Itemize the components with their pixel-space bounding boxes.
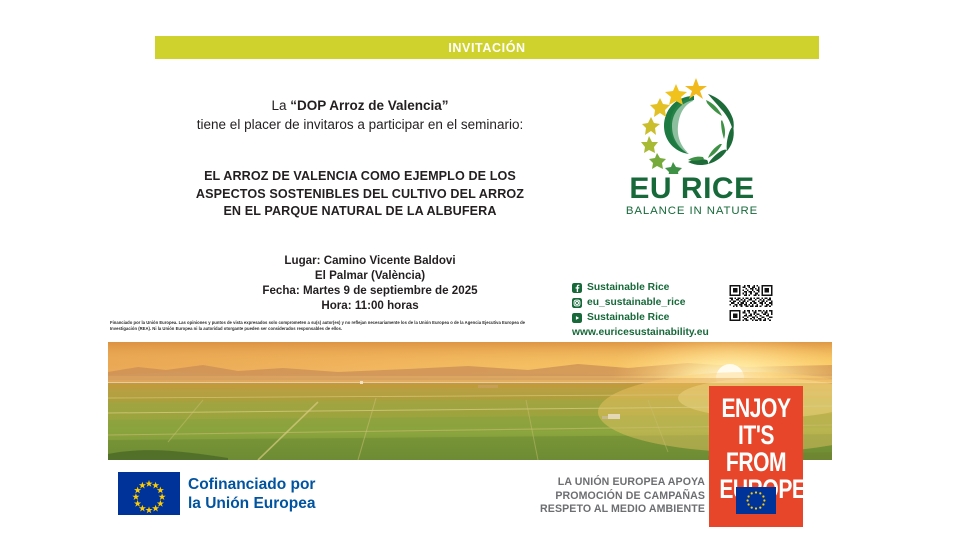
qr-code[interactable] [722,280,780,326]
intro-prefix: La [271,98,290,113]
invitation-page: INVITACIÓN La “DOP Arroz de Valencia” ti… [0,0,954,534]
seminar-title: EL ARROZ DE VALENCIA COMO EJEMPLO DE LOS… [150,168,570,221]
eu-flag-icon-badge [736,487,776,514]
campaign-line-2: PROMOCIÓN DE CAMPAÑAS [505,490,705,504]
facebook-handle: Sustainable Rice [587,282,669,293]
enjoy-its-from-europe-badge: ENJOY IT'S FROM EUROPE [709,386,803,527]
social-row-youtube[interactable]: Sustainable Rice [572,311,722,325]
eurice-logo: EU RICE BALANCE IN NATURE [612,74,772,229]
event-time: Hora: 11:00 horas [200,298,540,313]
invitation-banner: INVITACIÓN [155,36,819,59]
youtube-handle: Sustainable Rice [587,312,669,323]
social-row-facebook[interactable]: Sustainable Rice [572,281,722,295]
eurice-wordmark: EU RICE [612,174,772,204]
cofunded-line-2: la Unión Europea [188,494,315,513]
eu-funding-disclaimer: Financiado por la Unión Europea. Las opi… [110,320,542,332]
instagram-handle: eu_sustainable_rice [587,297,685,308]
enjoy-line-1: ENJOY [719,395,792,422]
banner-label: INVITACIÓN [155,41,819,54]
intro-line-1: La “DOP Arroz de Valencia” [150,96,570,115]
youtube-icon [572,313,582,323]
event-locality: El Palmar (València) [200,268,540,283]
event-details: Lugar: Camino Vicente Baldovi El Palmar … [200,253,540,313]
cofunded-line-1: Cofinanciado por [188,475,315,494]
cofunded-by-eu-logo: Cofinanciado por la Unión Europea [118,472,318,518]
campaign-line-1: LA UNIÓN EUROPEA APOYA [505,476,705,490]
cofunded-label: Cofinanciado por la Unión Europea [188,475,315,513]
seminar-title-line-3: EN EL PARQUE NATURAL DE LA ALBUFERA [150,203,570,221]
eurice-tagline: BALANCE IN NATURE [612,205,772,218]
intro-line-2: tiene el placer de invitaros a participa… [150,115,570,134]
event-place: Lugar: Camino Vicente Baldovi [200,253,540,268]
eu-flag-icon [118,472,180,515]
dop-brand-name: “DOP Arroz de Valencia” [290,98,448,113]
intro-text: La “DOP Arroz de Valencia” tiene el plac… [150,96,570,134]
instagram-icon [572,298,582,308]
website-link[interactable]: www.euricesustainability.eu [572,327,722,338]
seminar-title-line-2: ASPECTOS SOSTENIBLES DEL CULTIVO DEL ARR… [150,186,570,204]
campaign-line-3: RESPETO AL MEDIO AMBIENTE [505,503,705,517]
enjoy-line-2: IT'S FROM [719,422,792,476]
seminar-title-line-1: EL ARROZ DE VALENCIA COMO EJEMPLO DE LOS [150,168,570,186]
event-date: Fecha: Martes 9 de septiembre de 2025 [200,283,540,298]
eu-campaign-statement: LA UNIÓN EUROPEA APOYA PROMOCIÓN DE CAMP… [505,476,705,517]
eurice-emblem-icon [634,74,752,174]
social-links: Sustainable Rice eu_sustainable_rice Sus… [572,281,722,338]
facebook-icon [572,283,582,293]
social-row-instagram[interactable]: eu_sustainable_rice [572,296,722,310]
